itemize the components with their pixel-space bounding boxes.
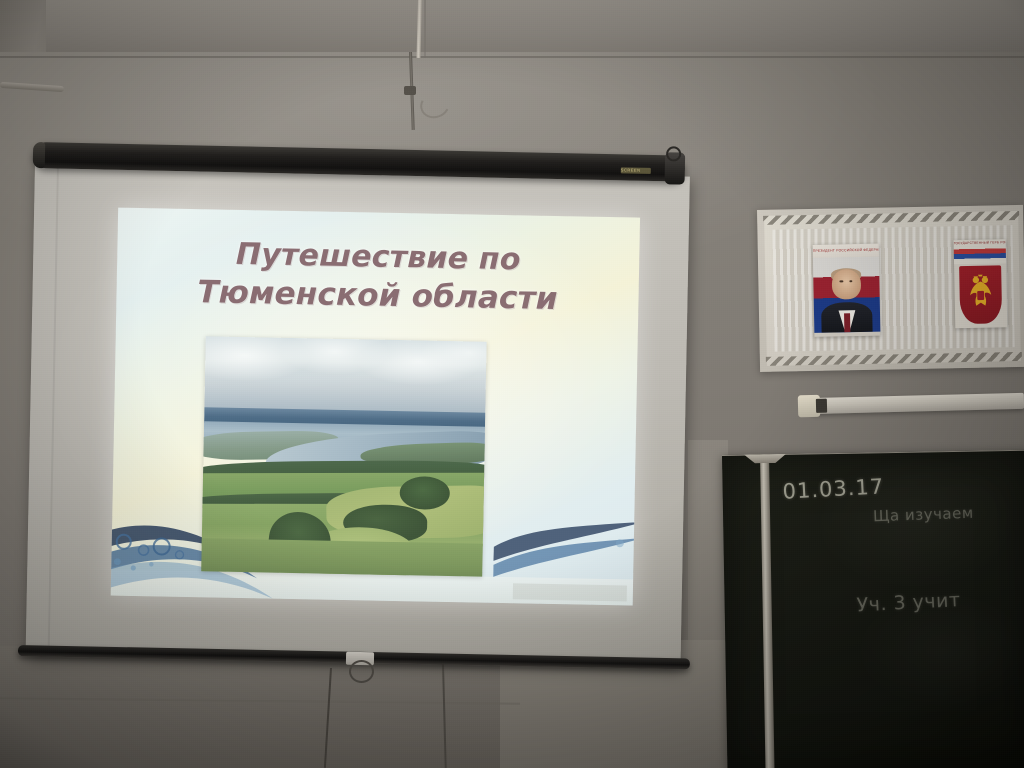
chalk-text-line-2: Ща изучаем [873, 504, 974, 525]
screen-edge-seam [48, 164, 59, 656]
chalkboard-divider-post [760, 454, 775, 768]
coat-of-arms-caption: ГОСУДАРСТВЕННЫЙ ГЕРБ РОССИЙСКОЙ ФЕДЕРАЦИ… [954, 240, 1006, 245]
bulletin-board: ПРЕЗИДЕНТ РОССИЙСКОЙ ФЕДЕРАЦИИ ГОСУДАРСТ… [757, 205, 1024, 372]
ceiling [0, 0, 1024, 58]
portrait-photo [813, 257, 880, 333]
projection-screen-surface: Путешествие по Тюменской области [26, 164, 690, 668]
portrait-tie [844, 313, 850, 333]
portrait-caption: ПРЕЗИДЕНТ РОССИЙСКОЙ ФЕДЕРАЦИИ [813, 244, 879, 258]
portrait-face [832, 269, 862, 300]
ceiling-seam-horizontal [0, 56, 1024, 58]
projected-slide: Путешествие по Тюменской области [111, 208, 640, 606]
chalkboard-post-bracket [744, 454, 786, 464]
photo-foreground-field [201, 538, 486, 576]
lamp-switch-icon[interactable] [816, 399, 827, 413]
classroom-scene: SCREEN Путешествие по Тюменской области [0, 0, 1024, 768]
portrait-eye-left [840, 280, 843, 283]
double-headed-eagle-icon [965, 274, 996, 313]
slide-footer-tag [513, 583, 627, 601]
president-portrait: ПРЕЗИДЕНТ РОССИЙСКОЙ ФЕДЕРАЦИИ [813, 244, 881, 337]
chalk-text-line-3: Уч. 3 учит [856, 589, 961, 616]
coat-of-arms-header: ГОСУДАРСТВЕННЫЙ ГЕРБ РОССИЙСКОЙ ФЕДЕРАЦИ… [954, 239, 1006, 264]
screen-pull-ring-icon[interactable] [349, 660, 374, 683]
chalk-text-date: 01.03.17 [782, 474, 885, 503]
cable-clip [404, 86, 416, 95]
portrait-eye-right [849, 280, 852, 283]
roller-brand-label: SCREEN [621, 167, 651, 174]
slide-title: Путешествие по Тюменской области [116, 234, 639, 322]
ceiling-seam-vertical [424, 0, 426, 58]
chalkboard: 01.03.17 Ща изучаем Уч. 3 учит [722, 450, 1024, 768]
coat-of-arms-poster: ГОСУДАРСТВЕННЫЙ ГЕРБ РОССИЙСКОЙ ФЕДЕРАЦИ… [954, 239, 1008, 328]
slide-landscape-photo [201, 336, 486, 576]
roller-end-cap-left [33, 142, 46, 168]
photo-clouds [204, 336, 486, 412]
coat-of-arms-shield [959, 265, 1002, 324]
